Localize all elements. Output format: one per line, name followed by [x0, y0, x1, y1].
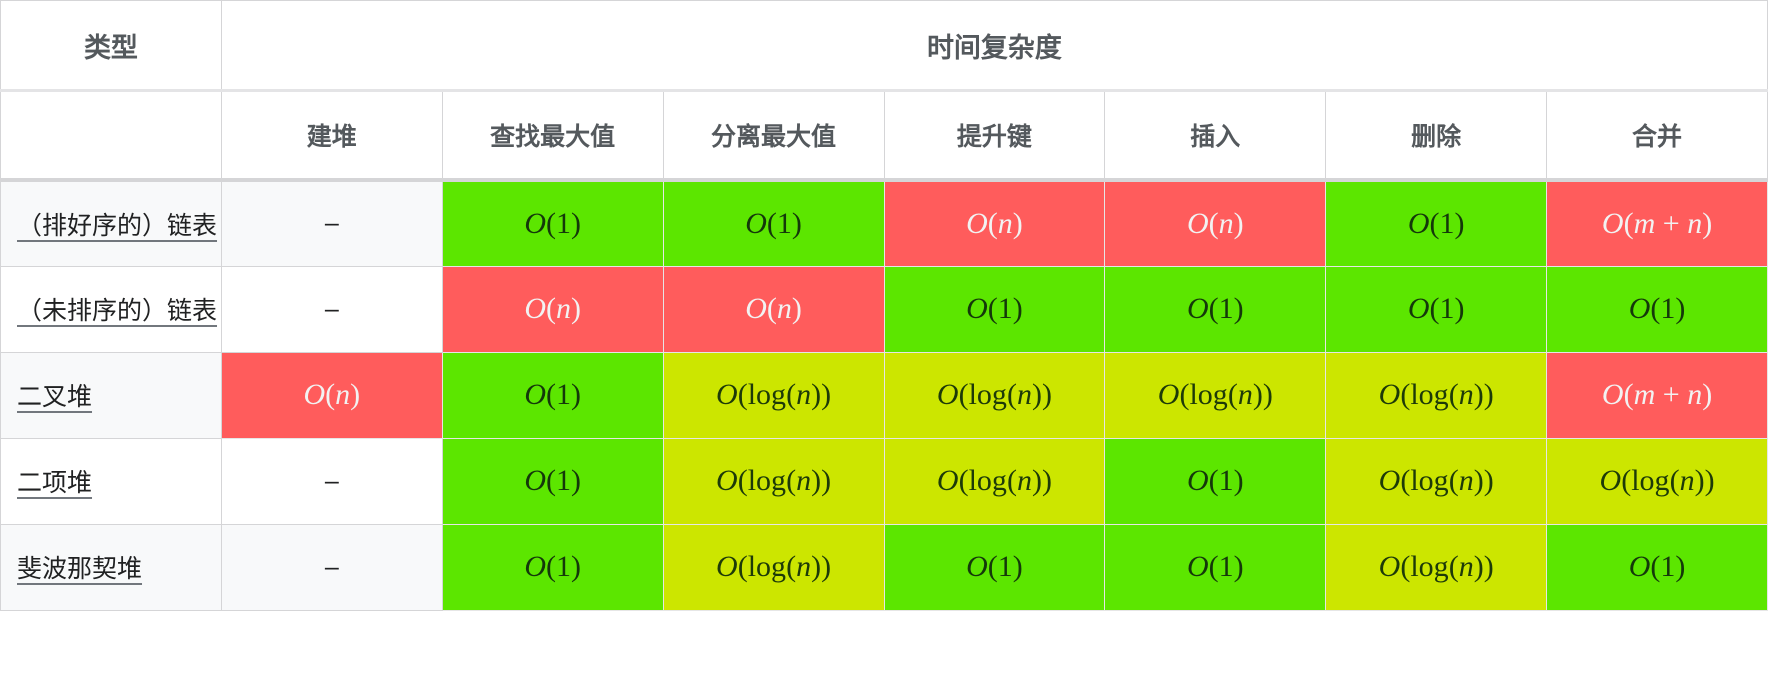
header-col-merge: 合并 [1547, 91, 1768, 181]
cell-r3-c2: O(1) [442, 352, 663, 438]
cell-r5-c5: O(1) [1105, 524, 1326, 610]
cell-r5-c7: O(1) [1547, 524, 1768, 610]
row-link[interactable]: 二叉堆 [17, 377, 92, 413]
row-link[interactable]: 斐波那契堆 [17, 549, 142, 585]
cell-r5-c2: O(1) [442, 524, 663, 610]
cell-r1-c1: – [221, 180, 442, 266]
header-col-increase-key: 提升键 [884, 91, 1105, 181]
table-body: （排好序的）链表–O(1)O(1)O(n)O(n)O(1)O(m + n)（未排… [1, 180, 1768, 610]
cell-r1-c2: O(1) [442, 180, 663, 266]
header-corner-blank [1, 91, 222, 181]
header-col-find-max: 查找最大值 [442, 91, 663, 181]
cell-r3-c6: O(log(n)) [1326, 352, 1547, 438]
table-row: 二项堆–O(1)O(log(n))O(log(n))O(1)O(log(n))O… [1, 438, 1768, 524]
cell-r2-c6: O(1) [1326, 266, 1547, 352]
header-time-complexity: 时间复杂度 [221, 1, 1767, 91]
row-link[interactable]: 二项堆 [17, 463, 92, 499]
header-col-extract-max: 分离最大值 [663, 91, 884, 181]
cell-r1-c7: O(m + n) [1547, 180, 1768, 266]
cell-r1-c6: O(1) [1326, 180, 1547, 266]
cell-r2-c1: – [221, 266, 442, 352]
row-link[interactable]: （未排序的）链表 [17, 291, 217, 327]
cell-r4-c5: O(1) [1105, 438, 1326, 524]
cell-r1-c3: O(1) [663, 180, 884, 266]
cell-r4-c2: O(1) [442, 438, 663, 524]
header-col-build-heap: 建堆 [221, 91, 442, 181]
row-header-3: 二叉堆 [1, 352, 222, 438]
cell-r5-c1: – [221, 524, 442, 610]
cell-r4-c1: – [221, 438, 442, 524]
cell-r1-c5: O(n) [1105, 180, 1326, 266]
cell-r5-c4: O(1) [884, 524, 1105, 610]
cell-r2-c2: O(n) [442, 266, 663, 352]
header-col-insert: 插入 [1105, 91, 1326, 181]
cell-r3-c7: O(m + n) [1547, 352, 1768, 438]
row-header-5: 斐波那契堆 [1, 524, 222, 610]
heap-complexity-table: 类型 时间复杂度 建堆 查找最大值 分离最大值 提升键 插入 删除 合并 （排好… [0, 0, 1768, 611]
row-link[interactable]: （排好序的）链表 [17, 206, 217, 242]
cell-r2-c7: O(1) [1547, 266, 1768, 352]
cell-r1-c4: O(n) [884, 180, 1105, 266]
table-row: （排好序的）链表–O(1)O(1)O(n)O(n)O(1)O(m + n) [1, 180, 1768, 266]
cell-r3-c5: O(log(n)) [1105, 352, 1326, 438]
table-header-row-columns: 建堆 查找最大值 分离最大值 提升键 插入 删除 合并 [1, 91, 1768, 181]
cell-r4-c3: O(log(n)) [663, 438, 884, 524]
cell-r5-c3: O(log(n)) [663, 524, 884, 610]
table-header-row-group: 类型 时间复杂度 [1, 1, 1768, 91]
table-row: 二叉堆O(n)O(1)O(log(n))O(log(n))O(log(n))O(… [1, 352, 1768, 438]
cell-r2-c5: O(1) [1105, 266, 1326, 352]
cell-r2-c3: O(n) [663, 266, 884, 352]
cell-r3-c3: O(log(n)) [663, 352, 884, 438]
row-header-1: （排好序的）链表 [1, 180, 222, 266]
cell-r3-c4: O(log(n)) [884, 352, 1105, 438]
table-row: 斐波那契堆–O(1)O(log(n))O(1)O(1)O(log(n))O(1) [1, 524, 1768, 610]
cell-r5-c6: O(log(n)) [1326, 524, 1547, 610]
row-header-4: 二项堆 [1, 438, 222, 524]
row-header-2: （未排序的）链表 [1, 266, 222, 352]
header-type: 类型 [1, 1, 222, 91]
cell-r3-c1: O(n) [221, 352, 442, 438]
cell-r4-c7: O(log(n)) [1547, 438, 1768, 524]
header-col-delete: 删除 [1326, 91, 1547, 181]
table-head: 类型 时间复杂度 建堆 查找最大值 分离最大值 提升键 插入 删除 合并 [1, 1, 1768, 181]
cell-r4-c4: O(log(n)) [884, 438, 1105, 524]
table-row: （未排序的）链表–O(n)O(n)O(1)O(1)O(1)O(1) [1, 266, 1768, 352]
cell-r4-c6: O(log(n)) [1326, 438, 1547, 524]
cell-r2-c4: O(1) [884, 266, 1105, 352]
